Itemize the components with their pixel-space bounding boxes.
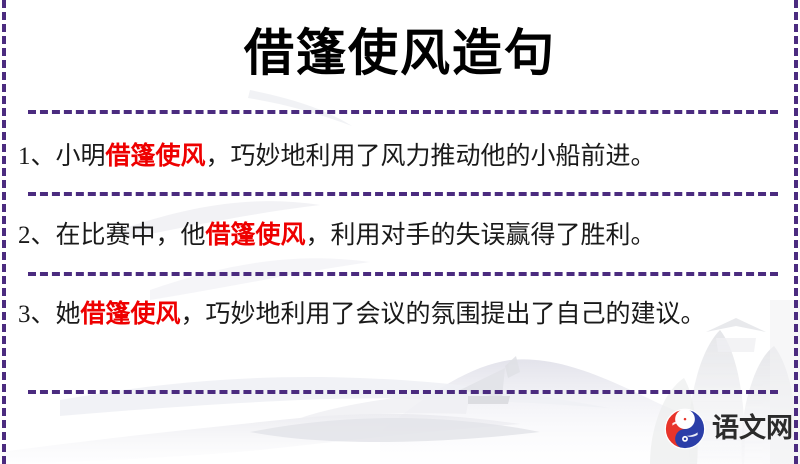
sentence-1-after: ，巧妙地利用了风力推动他的小船前进。 <box>206 143 656 170</box>
yinyang-fish-icon <box>664 408 706 450</box>
boat-watermark <box>250 356 540 442</box>
slide-canvas: 借篷使风造句 1、小明借篷使风，巧妙地利用了风力推动他的小船前进。 2、在比赛中… <box>0 0 800 464</box>
example-sentence-3: 3、她借篷使风，巧妙地利用了会议的氛围提出了自己的建议。 <box>18 291 774 338</box>
divider-rule-3 <box>28 272 778 276</box>
divider-rule-1 <box>28 110 778 114</box>
sentence-2-before: 在比赛中，他 <box>56 222 206 249</box>
sentence-3-before: 她 <box>56 301 81 328</box>
sentence-3-index: 3、 <box>18 301 56 328</box>
site-logo-text: 语文网 <box>712 414 793 444</box>
sentence-1-before: 小明 <box>56 143 106 170</box>
page-title: 借篷使风造句 <box>0 22 800 84</box>
divider-rule-2 <box>28 192 778 196</box>
sentence-2-idiom: 借篷使风 <box>206 220 306 249</box>
sentence-3-idiom: 借篷使风 <box>81 299 181 328</box>
example-sentence-2: 2、在比赛中，他借篷使风，利用对手的失误赢得了胜利。 <box>18 212 774 259</box>
sentence-2-after: ，利用对手的失误赢得了胜利。 <box>306 222 656 249</box>
divider-rule-4 <box>28 390 778 394</box>
site-logo[interactable]: 语文网 <box>664 408 793 450</box>
sentence-1-idiom: 借篷使风 <box>106 141 206 170</box>
sentence-3-after: ，巧妙地利用了会议的氛围提出了自己的建议。 <box>181 301 706 328</box>
sentence-2-index: 2、 <box>18 222 56 249</box>
sentence-1-index: 1、 <box>18 143 56 170</box>
example-sentence-1: 1、小明借篷使风，巧妙地利用了风力推动他的小船前进。 <box>18 133 774 180</box>
